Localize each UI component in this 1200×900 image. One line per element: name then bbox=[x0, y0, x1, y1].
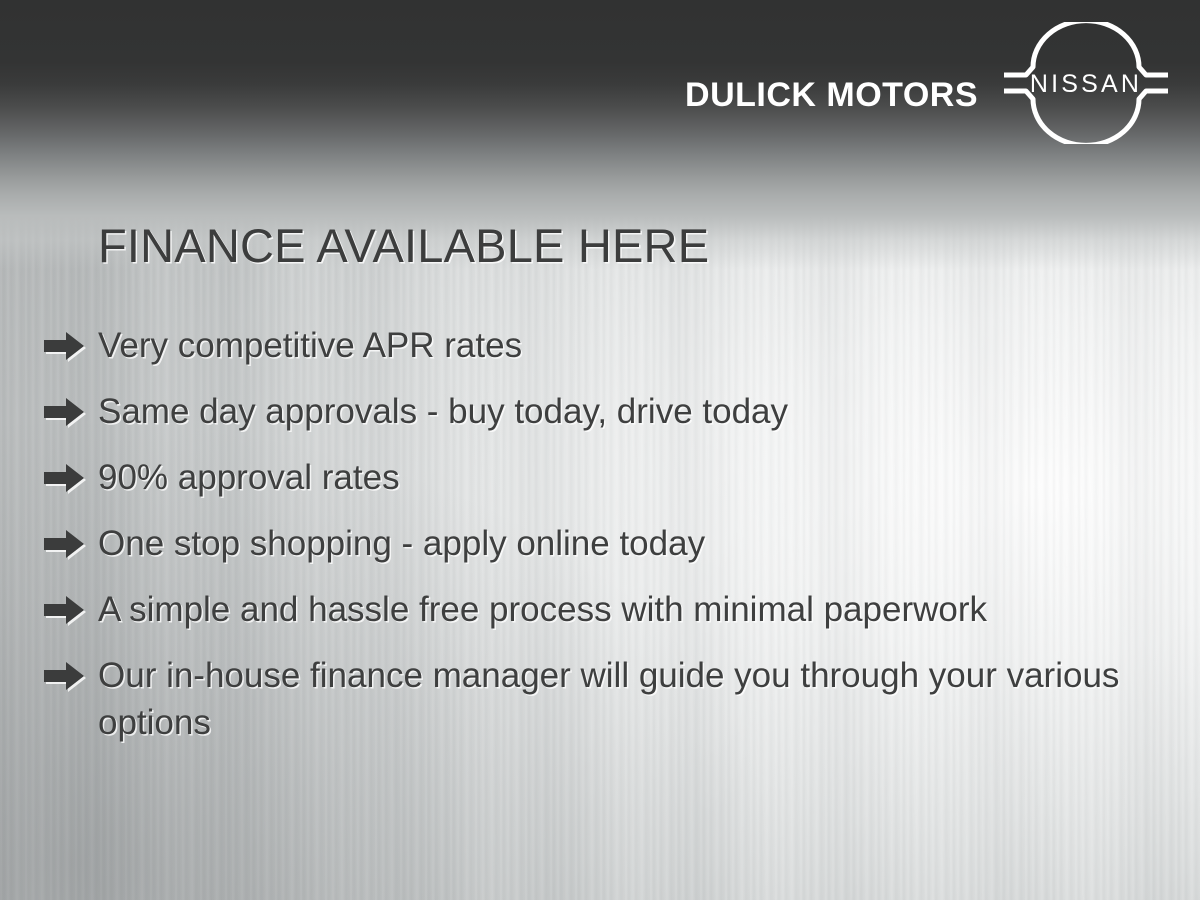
list-item: Our in-house finance manager will guide … bbox=[44, 652, 1174, 746]
page-title: FINANCE AVAILABLE HERE bbox=[98, 218, 709, 273]
list-item-label: A simple and hassle free process with mi… bbox=[98, 586, 1174, 633]
list-item-label: Our in-house finance manager will guide … bbox=[98, 652, 1174, 746]
nissan-wordmark: NISSAN bbox=[1030, 70, 1142, 98]
nissan-logo: NISSAN bbox=[1000, 22, 1172, 144]
right-arrow-icon bbox=[44, 661, 84, 691]
list-item-label: One stop shopping - apply online today bbox=[98, 520, 1174, 567]
dealer-brand-name: DULICK MOTORS bbox=[685, 76, 978, 115]
right-arrow-icon bbox=[44, 331, 84, 361]
list-item: Same day approvals - buy today, drive to… bbox=[44, 388, 1174, 435]
list-item: 90% approval rates bbox=[44, 454, 1174, 501]
list-item: A simple and hassle free process with mi… bbox=[44, 586, 1174, 633]
right-arrow-icon bbox=[44, 463, 84, 493]
list-item-label: Very competitive APR rates bbox=[98, 322, 1174, 369]
list-item: One stop shopping - apply online today bbox=[44, 520, 1174, 567]
slide: DULICK MOTORS NISSAN FINANCE AVAILABLE H… bbox=[0, 0, 1200, 900]
list-item-label: 90% approval rates bbox=[98, 454, 1174, 501]
right-arrow-icon bbox=[44, 529, 84, 559]
list-item: Very competitive APR rates bbox=[44, 322, 1174, 369]
right-arrow-icon bbox=[44, 397, 84, 427]
benefits-list: Very competitive APR rates Same day appr… bbox=[44, 322, 1174, 746]
header-bar: DULICK MOTORS NISSAN bbox=[0, 0, 1200, 160]
right-arrow-icon bbox=[44, 595, 84, 625]
list-item-label: Same day approvals - buy today, drive to… bbox=[98, 388, 1174, 435]
